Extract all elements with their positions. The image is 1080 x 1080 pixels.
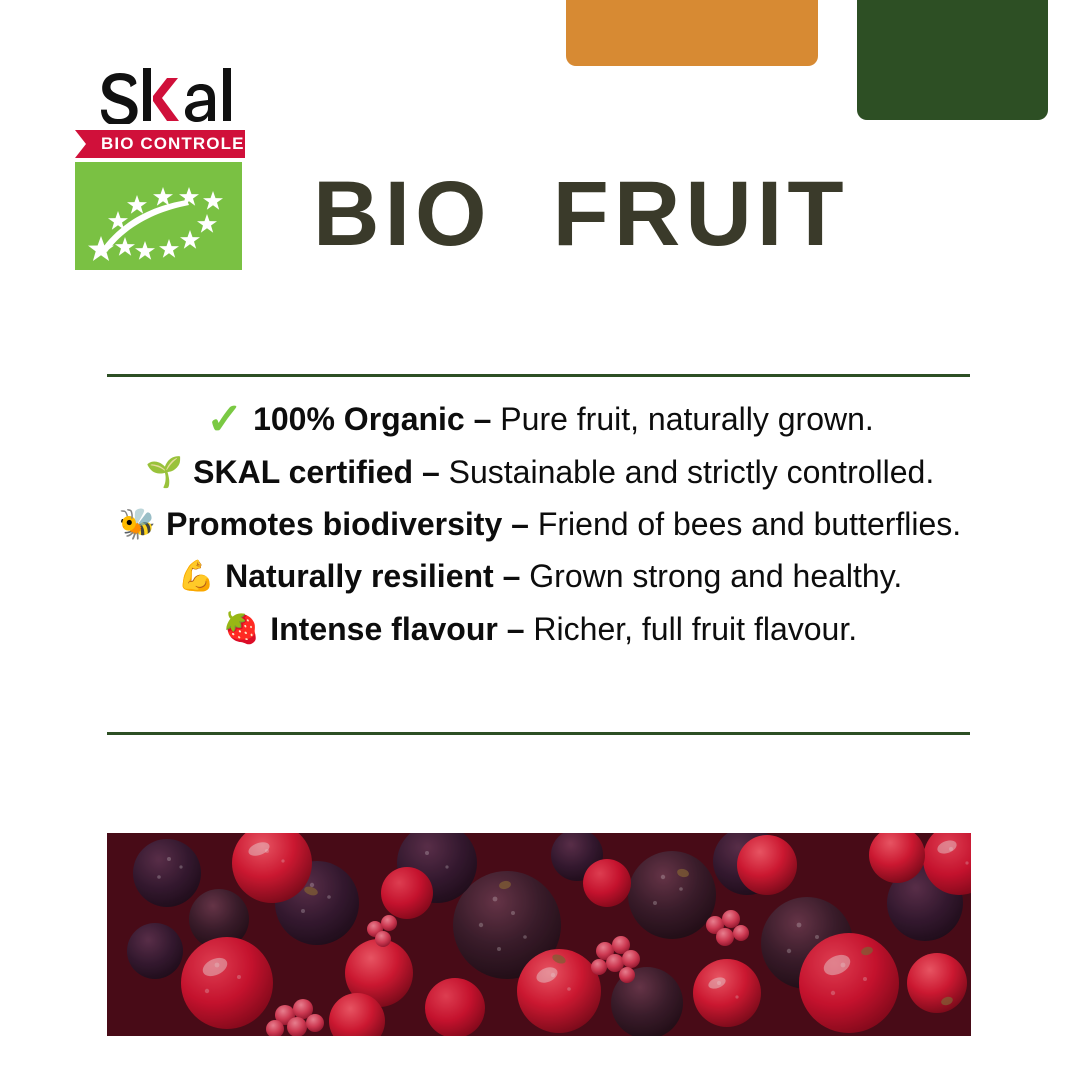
divider-bottom <box>107 732 970 735</box>
eu-organic-leaf-logo <box>75 162 242 270</box>
feature-text: Promotes biodiversity – Friend of bees a… <box>166 503 961 546</box>
feature-lead: Intense flavour – <box>270 611 533 647</box>
feature-list: ✓ 100% Organic – Pure fruit, naturally g… <box>0 398 1080 651</box>
flexed-biceps-icon: 💪 <box>178 562 215 592</box>
feature-lead: Naturally resilient – <box>225 558 529 594</box>
feature-lead: SKAL certified – <box>193 454 448 490</box>
feature-text: SKAL certified – Sustainable and strictl… <box>193 451 934 494</box>
honeybee-icon: 🐝 <box>119 510 156 540</box>
feature-item-organic: ✓ 100% Organic – Pure fruit, naturally g… <box>206 398 874 442</box>
feature-lead: Promotes biodiversity – <box>166 506 538 542</box>
feature-text: Intense flavour – Richer, full fruit fla… <box>270 608 857 651</box>
page-title: BIO FRUIT <box>313 168 849 260</box>
feature-rest: Grown strong and healthy. <box>529 558 902 594</box>
berry-photo <box>107 833 971 1036</box>
feature-rest: Friend of bees and butterflies. <box>538 506 961 542</box>
bio-controle-badge: BIO CONTROLE <box>75 130 245 158</box>
seedling-icon: 🌱 <box>146 458 183 488</box>
feature-item-skal-certified: 🌱 SKAL certified – Sustainable and stric… <box>146 451 934 494</box>
feature-text: Naturally resilient – Grown strong and h… <box>225 555 902 598</box>
feature-item-resilient: 💪 Naturally resilient – Grown strong and… <box>178 555 902 598</box>
feature-rest: Richer, full fruit flavour. <box>533 611 857 647</box>
feature-lead: 100% Organic – <box>253 401 500 437</box>
check-mark-icon: ✓ <box>206 398 243 442</box>
poster-canvas: BIO CONTROLE <box>0 0 1080 1080</box>
feature-rest: Pure fruit, naturally grown. <box>500 401 874 437</box>
feature-item-flavour: 🍓 Intense flavour – Richer, full fruit f… <box>223 608 857 651</box>
feature-rest: Sustainable and strictly controlled. <box>449 454 935 490</box>
feature-text: 100% Organic – Pure fruit, naturally gro… <box>253 398 874 441</box>
feature-item-biodiversity: 🐝 Promotes biodiversity – Friend of bees… <box>119 503 961 546</box>
divider-top <box>107 374 970 377</box>
skal-wordmark <box>101 66 325 124</box>
skal-logo-block: BIO CONTROLE <box>75 66 325 270</box>
strawberry-icon: 🍓 <box>223 614 260 644</box>
decorative-green-block <box>857 0 1048 120</box>
decorative-orange-block <box>566 0 818 66</box>
